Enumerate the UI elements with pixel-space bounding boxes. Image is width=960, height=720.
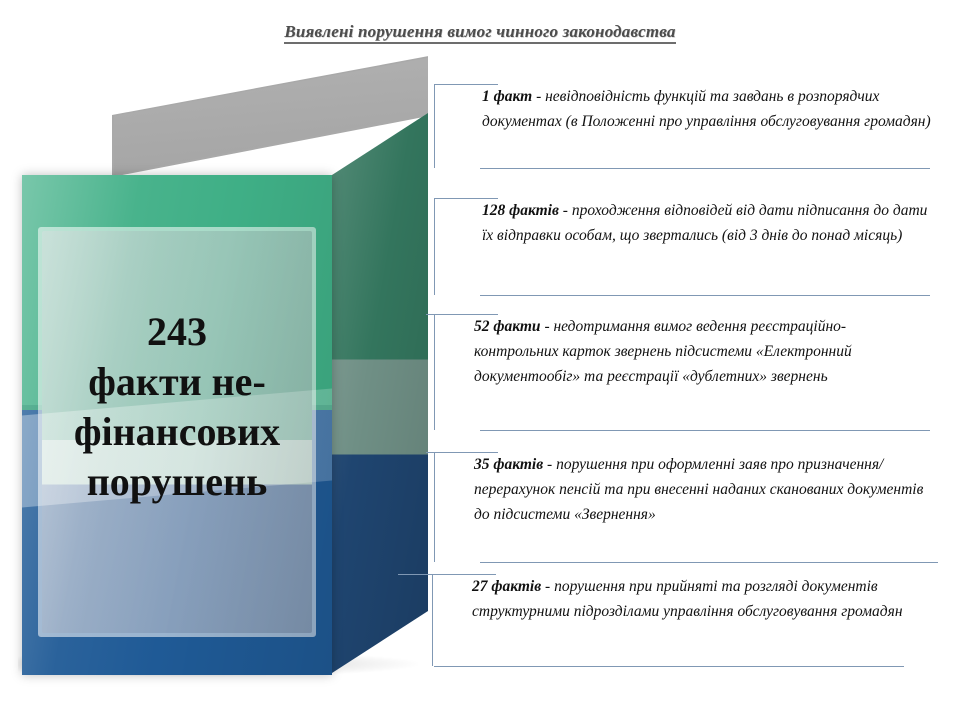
- callout-connector-bracket: [434, 198, 482, 295]
- box-caption-line-1: 243: [38, 307, 316, 357]
- box-caption-line-2: факти не-: [38, 357, 316, 407]
- page-title: Виявлені порушення вимог чинного законод…: [0, 22, 960, 42]
- callout-text: 1 факт - невідповідність функцій та завд…: [482, 84, 932, 134]
- callout-count: 35 фактів: [474, 456, 543, 473]
- page-title-text: Виявлені порушення вимог чинного законод…: [284, 22, 675, 44]
- callout-text: 128 фактів - проходження відповідей від …: [482, 198, 932, 248]
- callout-connector-bracket: [432, 574, 472, 666]
- callout-connector-bottom: [480, 562, 938, 563]
- callout-count: 27 фактів: [472, 578, 541, 595]
- callout-text: 52 факти - недотримання вимог ведення ре…: [474, 314, 924, 389]
- box-caption-line-3: фінансових: [38, 407, 316, 457]
- callout-text: 35 фактів - порушення при оформленні зая…: [474, 452, 924, 527]
- callout-count: 52 факти: [474, 318, 541, 335]
- box-right-face-shading: [332, 113, 428, 673]
- callout-connector-bottom: [480, 430, 930, 431]
- callout-dash: -: [559, 202, 572, 219]
- callout-dash: -: [541, 318, 554, 335]
- callout-count: 128 фактів: [482, 202, 559, 219]
- callout-connector-bottom: [480, 168, 930, 169]
- callout-connector-bracket: [434, 84, 482, 168]
- total-volume-box: 243 факти не- фінансових порушень: [8, 55, 428, 665]
- callout-dash: -: [532, 88, 545, 105]
- callout-connector-bottom: [480, 295, 930, 296]
- callout-dash: -: [541, 578, 554, 595]
- box-caption: 243 факти не- фінансових порушень: [38, 307, 316, 507]
- callout-text: 27 фактів - порушення при прийняті та ро…: [472, 574, 938, 624]
- callout-connector-bottom: [434, 666, 904, 667]
- box-caption-line-4: порушень: [38, 457, 316, 507]
- callout-count: 1 факт: [482, 88, 532, 105]
- callout-connector-bracket: [434, 452, 474, 562]
- callout-body: невідповідність функцій та завдань в роз…: [482, 88, 931, 130]
- callout-dash: -: [543, 456, 556, 473]
- callout-connector-bracket: [434, 314, 474, 430]
